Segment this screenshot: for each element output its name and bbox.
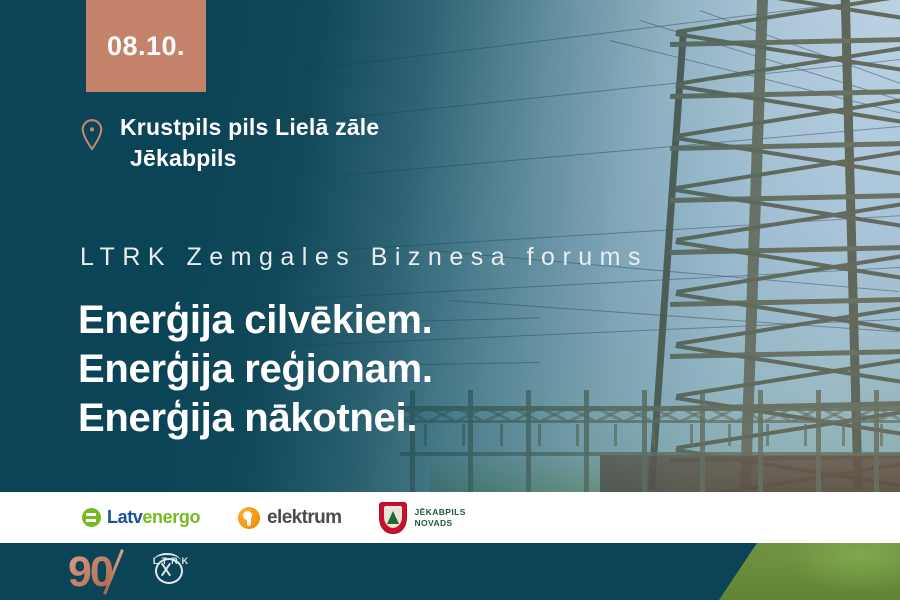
headline-line-3: Enerģija nākotnei. (78, 394, 718, 443)
anniversary-mark: 90 (68, 549, 140, 595)
latvenergo-wordmark-part-2: energo (142, 507, 200, 527)
latvenergo-wordmark-part-1: Latv (107, 507, 142, 527)
jekabpils-line-1: JĒKABPILS (414, 507, 465, 517)
location-line-1: Krustpils pils Lielā zāle (120, 114, 379, 140)
location-block: Krustpils pils Lielā zāle Jēkabpils (78, 112, 638, 174)
latvenergo-wordmark: Latvenergo (107, 507, 200, 528)
date-badge: 08.10. (86, 0, 206, 92)
jekabpils-line-2: NOVADS (414, 518, 452, 528)
sponsor-logo-elektrum: elektrum (238, 507, 341, 529)
sponsor-logo-band: Latvenergo elektrum JĒKABPILS NOVADS (0, 492, 900, 543)
ltrk-logo: LTRK (143, 551, 199, 569)
event-poster: 08.10. Krustpils pils Lielā zāle Jēkabpi… (0, 0, 900, 600)
map-pin-icon (78, 118, 106, 152)
elektrum-wordmark: elektrum (267, 507, 341, 529)
jekabpils-coat-of-arms-icon (379, 502, 407, 534)
elektrum-swirl-icon (238, 507, 260, 529)
headline-line-1: Enerģija cilvēkiem. (78, 296, 718, 345)
date-badge-text: 08.10. (107, 31, 185, 62)
jekabpils-wordmark: JĒKABPILS NOVADS (414, 507, 465, 529)
sponsor-logo-latvenergo: Latvenergo (82, 507, 200, 528)
location-line-2: Jēkabpils (120, 143, 638, 174)
sponsor-logo-jekabpils: JĒKABPILS NOVADS (379, 502, 465, 534)
location-text: Krustpils pils Lielā zāle Jēkabpils (120, 112, 638, 174)
event-name-eyebrow: LTRK Zemgales Biznesa forums (80, 243, 648, 272)
headline-line-2: Enerģija reģionam. (78, 345, 718, 394)
headline: Enerģija cilvēkiem. Enerģija reģionam. E… (78, 296, 718, 443)
tree-icon (387, 511, 399, 524)
latvenergo-mark-icon (82, 508, 101, 527)
